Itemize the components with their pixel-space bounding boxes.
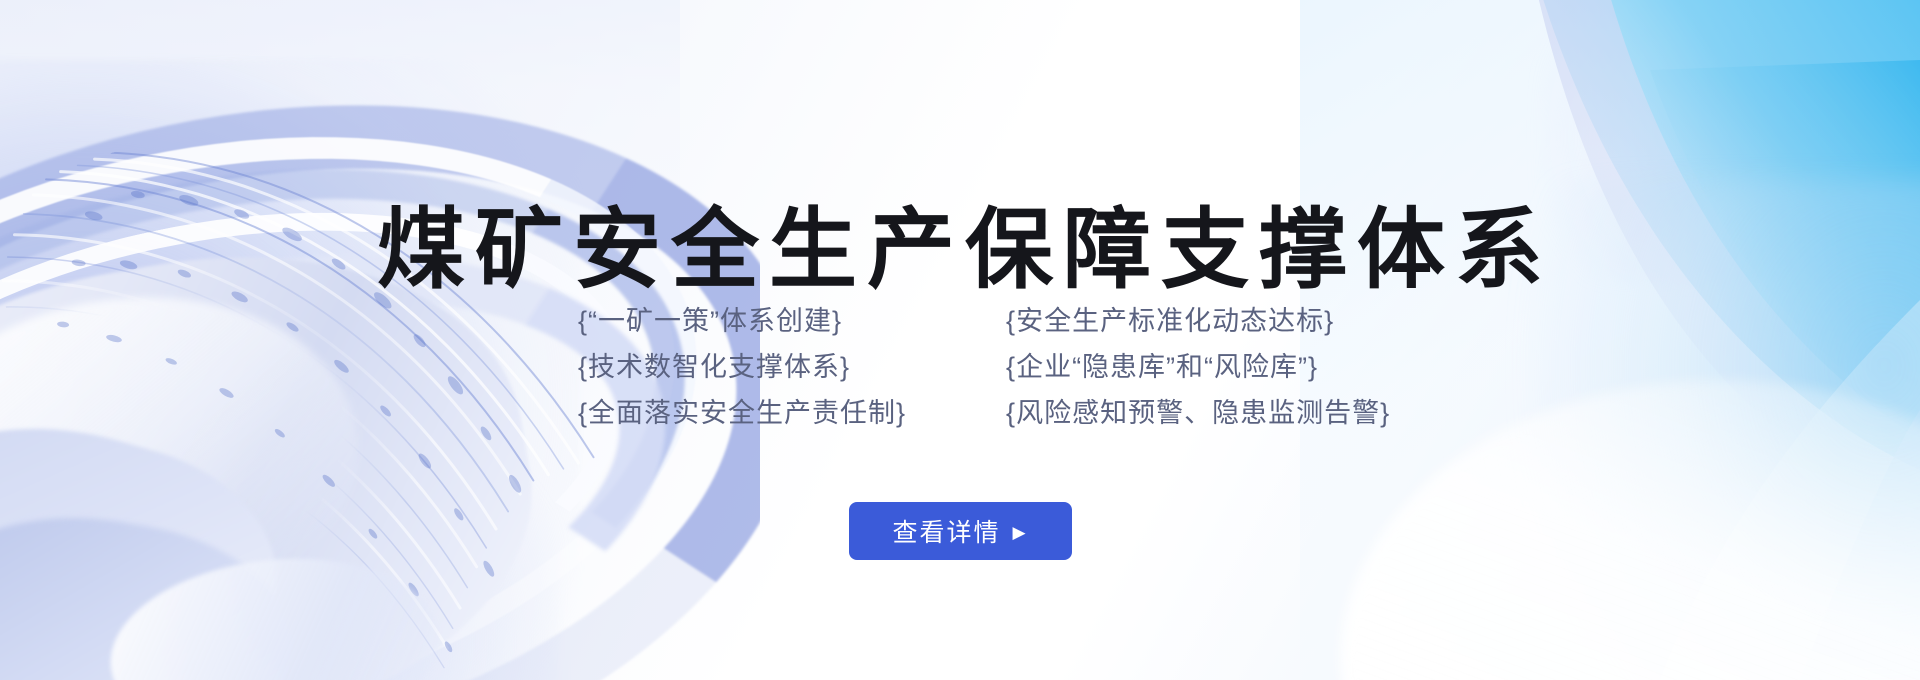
subtitle-item: {“一矿一策”体系创建}: [578, 298, 906, 344]
subtitle-item: {技术数智化支撑体系}: [578, 344, 906, 390]
subtitle-item: {企业“隐患库”和“风险库”}: [1006, 344, 1390, 390]
subtitle-item: {安全生产标准化动态达标}: [1006, 298, 1390, 344]
view-details-button[interactable]: 查看详情 ▶: [849, 502, 1072, 560]
cta-container: 查看详情 ▶: [0, 502, 1920, 560]
subtitle-item: {全面落实安全生产责任制}: [578, 390, 906, 436]
banner-title: 煤矿安全生产保障支撑体系: [0, 201, 1920, 300]
view-details-label: 查看详情: [892, 513, 1000, 549]
hero-banner: 煤矿安全生产保障支撑体系 {“一矿一策”体系创建} {技术数智化支撑体系} {全…: [0, 0, 1920, 680]
play-triangle-right-icon: ▶: [1012, 524, 1027, 541]
banner-content: 煤矿安全生产保障支撑体系 {“一矿一策”体系创建} {技术数智化支撑体系} {全…: [0, 0, 1920, 680]
banner-subtitle-group: {“一矿一策”体系创建} {技术数智化支撑体系} {全面落实安全生产责任制} {…: [578, 298, 1390, 436]
subtitle-column-left: {“一矿一策”体系创建} {技术数智化支撑体系} {全面落实安全生产责任制}: [578, 298, 906, 436]
subtitle-item: {风险感知预警、隐患监测告警}: [1006, 390, 1390, 436]
subtitle-column-right: {安全生产标准化动态达标} {企业“隐患库”和“风险库”} {风险感知预警、隐患…: [1006, 298, 1390, 436]
